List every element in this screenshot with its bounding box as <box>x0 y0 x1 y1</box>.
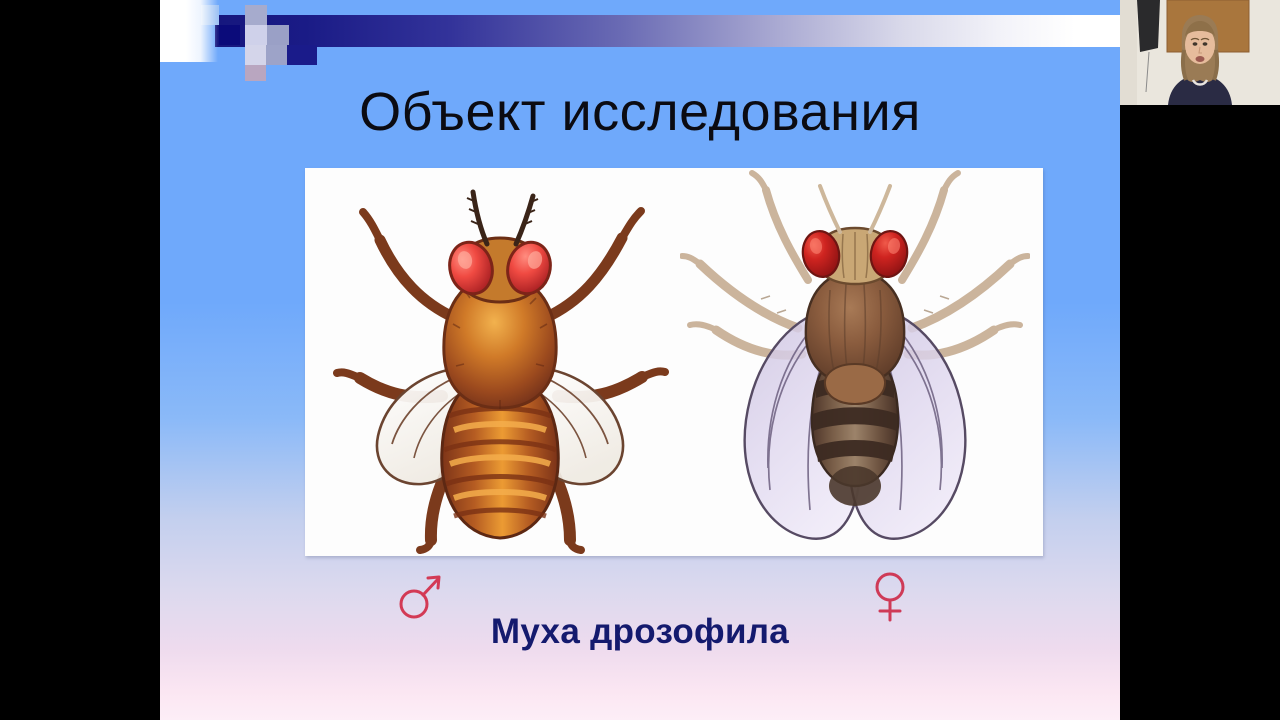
fly-male <box>330 168 670 556</box>
header-gradient-bar <box>215 15 1120 47</box>
square-lavender-2 <box>245 45 266 65</box>
slide-caption: Муха дрозофила <box>160 612 1120 652</box>
slide-header-decoration <box>160 10 1120 47</box>
square-steel-3 <box>266 45 287 65</box>
square-steel-2 <box>245 5 267 25</box>
presentation-slide: Объект исследования <box>160 0 1120 720</box>
header-white-fade <box>160 0 218 62</box>
fly-female <box>680 168 1030 556</box>
illustration-panel <box>305 168 1043 556</box>
square-mauve-1 <box>245 65 266 81</box>
presenter-webcam[interactable] <box>1120 0 1280 105</box>
square-navy-small <box>219 25 240 45</box>
square-lavender-1 <box>245 25 267 45</box>
square-navy-2 <box>287 45 317 65</box>
page-title: Объект исследования <box>160 83 1120 141</box>
screen-root: Объект исследования <box>0 0 1280 720</box>
square-steel-1 <box>267 25 289 45</box>
